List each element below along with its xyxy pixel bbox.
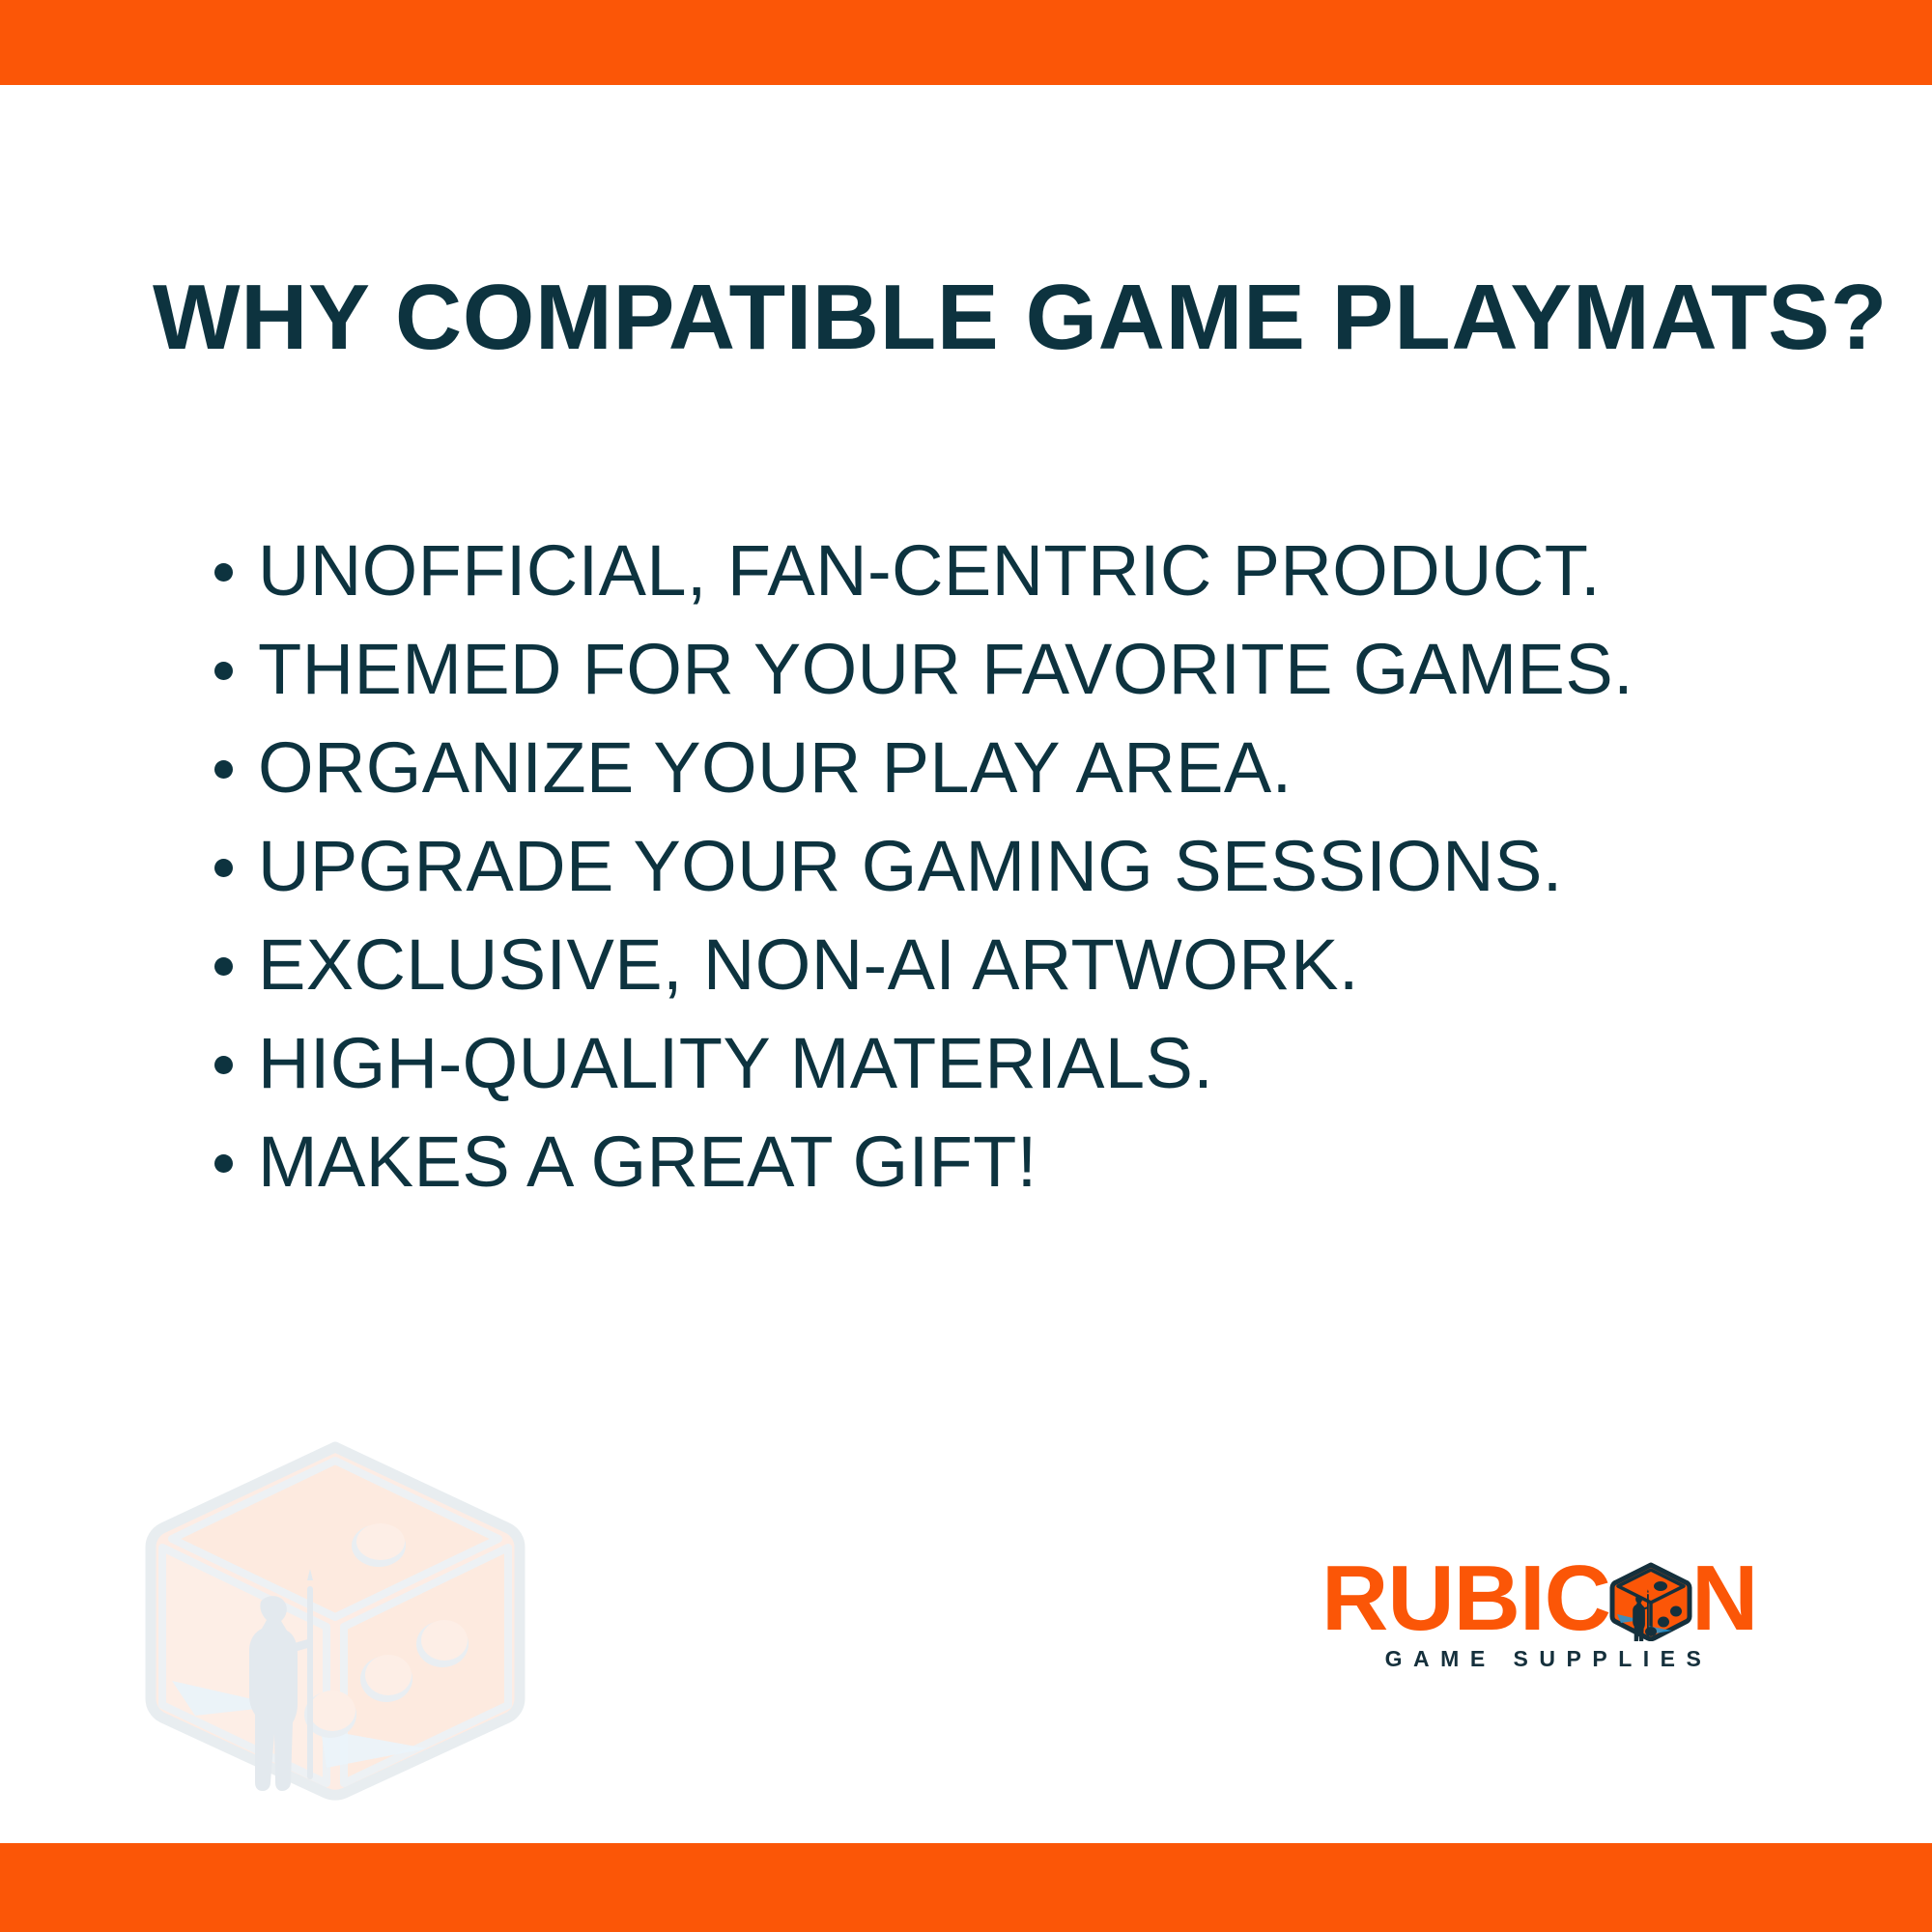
list-item-label: UPGRADE YOUR GAMING SESSIONS. — [258, 822, 1563, 911]
list-item-label: HIGH-QUALITY MATERIALS. — [258, 1019, 1213, 1108]
brand-name-part1: RUBIC — [1321, 1557, 1610, 1640]
benefits-list: UNOFFICIAL, FAN-CENTRIC PRODUCT. THEMED … — [214, 526, 1876, 1216]
brand-wordmark: RUBIC — [1321, 1557, 1799, 1640]
orange-die-icon — [1608, 1562, 1693, 1641]
list-item: THEMED FOR YOUR FAVORITE GAMES. — [214, 625, 1876, 724]
list-item: MAKES A GREAT GIFT! — [214, 1118, 1876, 1216]
bottom-accent-bar — [0, 1843, 1932, 1932]
list-item: EXCLUSIVE, NON-AI ARTWORK. — [214, 921, 1876, 1019]
bullet-dot-icon — [214, 760, 233, 779]
bullet-dot-icon — [214, 563, 233, 582]
bullet-dot-icon — [214, 1056, 233, 1074]
brand-name-part2: N — [1691, 1557, 1757, 1640]
list-item: UNOFFICIAL, FAN-CENTRIC PRODUCT. — [214, 526, 1876, 625]
list-item: UPGRADE YOUR GAMING SESSIONS. — [214, 822, 1876, 921]
list-item: HIGH-QUALITY MATERIALS. — [214, 1019, 1876, 1118]
brand-tagline: GAME SUPPLIES — [1321, 1646, 1776, 1672]
top-accent-bar — [0, 0, 1932, 85]
bullet-dot-icon — [214, 662, 233, 680]
list-item: ORGANIZE YOUR PLAY AREA. — [214, 724, 1876, 822]
list-item-label: EXCLUSIVE, NON-AI ARTWORK. — [258, 921, 1359, 1009]
poster-canvas: WHY COMPATIBLE GAME PLAYMATS? UNOFFICIAL… — [0, 0, 1932, 1932]
list-item-label: ORGANIZE YOUR PLAY AREA. — [258, 724, 1293, 812]
brand-logo[interactable]: RUBIC — [1321, 1557, 1799, 1685]
list-item-label: UNOFFICIAL, FAN-CENTRIC PRODUCT. — [258, 526, 1601, 615]
bullet-dot-icon — [214, 1154, 233, 1173]
list-item-label: THEMED FOR YOUR FAVORITE GAMES. — [258, 625, 1634, 714]
faded-die-watermark-icon — [137, 1439, 533, 1802]
bullet-dot-icon — [214, 859, 233, 877]
page-title: WHY COMPATIBLE GAME PLAYMATS? — [153, 271, 1833, 364]
bullet-dot-icon — [214, 957, 233, 976]
list-item-label: MAKES A GREAT GIFT! — [258, 1118, 1037, 1207]
